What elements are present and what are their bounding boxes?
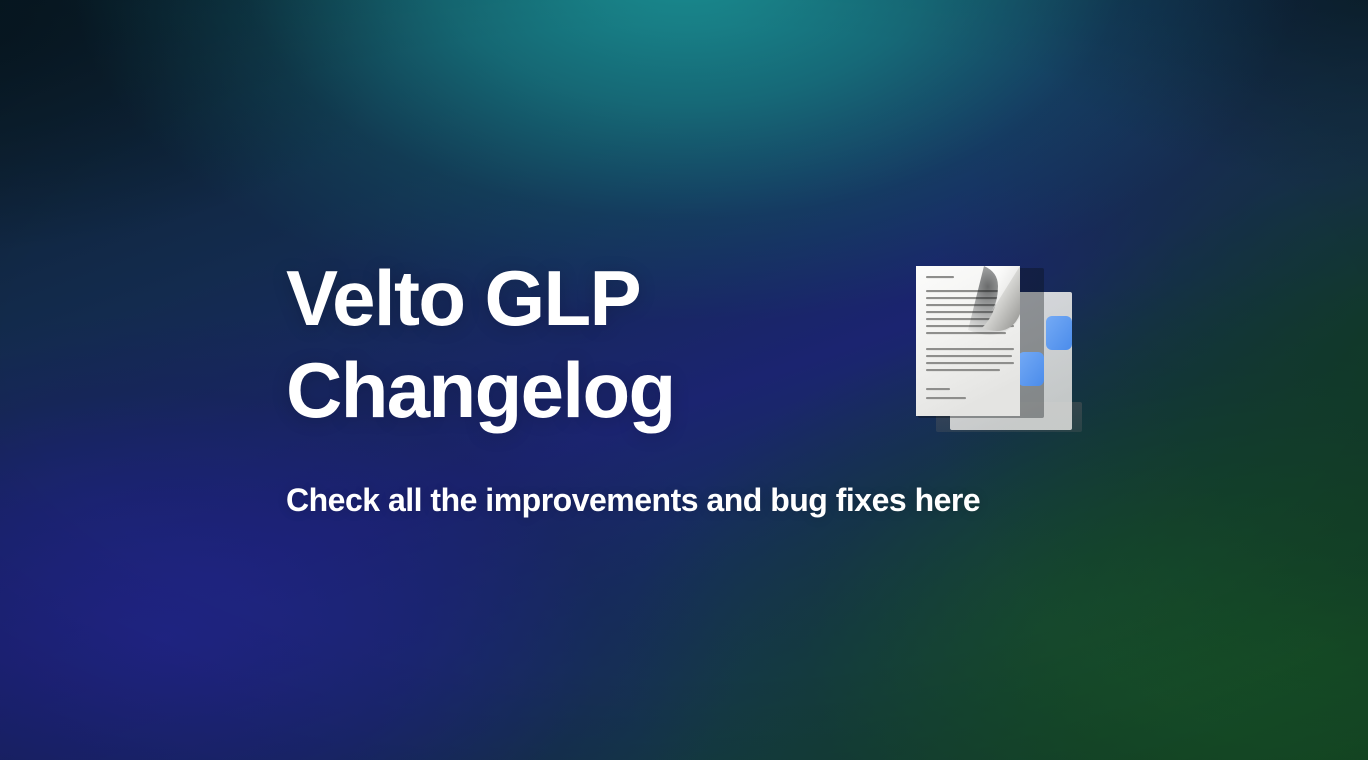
document-tab-lower[interactable] bbox=[1018, 352, 1044, 386]
page-subtitle: Check all the improvements and bug fixes… bbox=[286, 480, 1126, 520]
document-stack-icon bbox=[906, 252, 1092, 442]
document-tab-upper[interactable] bbox=[1046, 316, 1072, 350]
document-stack-illustration bbox=[906, 252, 1092, 442]
hero-banner: Velto GLP Changelog Check all the improv… bbox=[0, 0, 1368, 760]
